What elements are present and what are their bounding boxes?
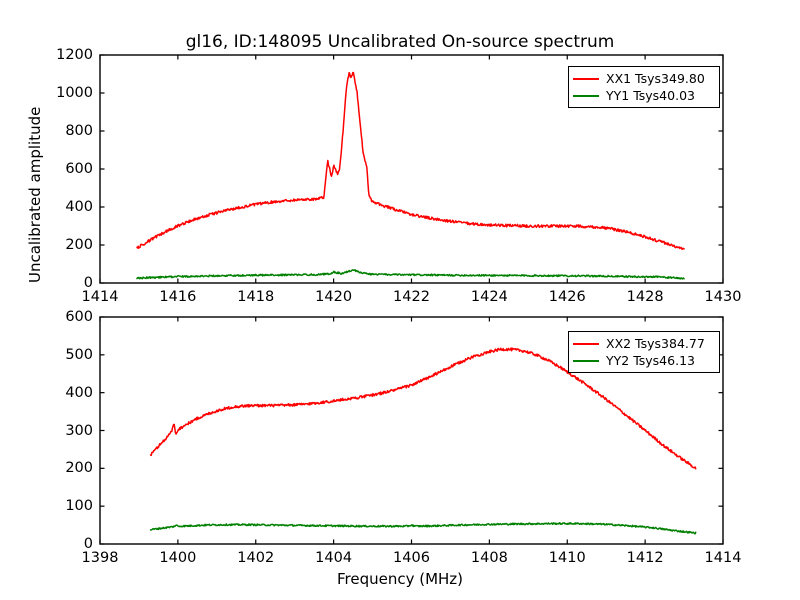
legend-label-yy2: YY2 Tsys46.13 [606, 353, 695, 368]
y-tick-label: 1000 [0, 85, 93, 101]
legend-label-yy1: YY1 Tsys40.03 [606, 88, 695, 103]
panel-top-legend: XX1 Tsys349.80 YY1 Tsys40.03 [568, 66, 720, 108]
y-tick-label: 600 [0, 309, 93, 325]
y-tick-label: 100 [0, 498, 93, 514]
panel-top-plot-area [0, 0, 800, 310]
y-tick-label: 0 [0, 275, 93, 291]
x-tick-label: 1414 [705, 550, 742, 566]
legend-item: YY1 Tsys40.03 [573, 87, 714, 104]
legend-swatch-xx1 [573, 78, 599, 80]
x-tick-label: 1424 [471, 289, 508, 305]
x-tick-label: 1408 [471, 550, 508, 566]
y-tick-label: 400 [0, 199, 93, 215]
x-tick-label: 1398 [82, 550, 119, 566]
legend-item: YY2 Tsys46.13 [573, 352, 714, 369]
x-tick-label: 1418 [237, 289, 274, 305]
y-tick-label: 200 [0, 460, 93, 476]
x-tick-label: 1416 [159, 289, 196, 305]
y-tick-label: 1200 [0, 47, 93, 63]
x-tick-label: 1428 [627, 289, 664, 305]
y-tick-label: 200 [0, 237, 93, 253]
x-tick-label: 1430 [705, 289, 742, 305]
legend-item: XX1 Tsys349.80 [573, 70, 714, 87]
panel-bottom: Frequency (MHz) XX2 Tsys384.77 YY2 Tsys4… [0, 310, 800, 600]
x-tick-label: 1420 [315, 289, 352, 305]
legend-item: XX2 Tsys384.77 [573, 335, 714, 352]
x-tick-label: 1414 [82, 289, 119, 305]
legend-label-xx1: XX1 Tsys349.80 [606, 71, 705, 86]
panel-top: Uncalibrated amplitude XX1 Tsys349.80 YY… [0, 0, 800, 310]
x-tick-label: 1404 [315, 550, 352, 566]
y-tick-label: 600 [0, 161, 93, 177]
x-tick-label: 1400 [159, 550, 196, 566]
x-tick-label: 1412 [627, 550, 664, 566]
y-tick-label: 0 [0, 536, 93, 552]
x-tick-label: 1422 [393, 289, 430, 305]
y-tick-label: 500 [0, 347, 93, 363]
y-tick-label: 300 [0, 423, 93, 439]
panel-bottom-legend: XX2 Tsys384.77 YY2 Tsys46.13 [568, 331, 720, 373]
figure-canvas: gl16, ID:148095 Uncalibrated On-source s… [0, 0, 800, 600]
x-tick-label: 1426 [549, 289, 586, 305]
panel-bottom-x-axis-label: Frequency (MHz) [0, 570, 800, 588]
legend-swatch-xx2 [573, 343, 599, 345]
y-tick-label: 400 [0, 385, 93, 401]
x-tick-label: 1406 [393, 550, 430, 566]
x-tick-label: 1410 [549, 550, 586, 566]
y-tick-label: 800 [0, 123, 93, 139]
legend-swatch-yy2 [573, 360, 599, 362]
legend-label-xx2: XX2 Tsys384.77 [606, 336, 705, 351]
legend-swatch-yy1 [573, 95, 599, 97]
x-tick-label: 1402 [237, 550, 274, 566]
